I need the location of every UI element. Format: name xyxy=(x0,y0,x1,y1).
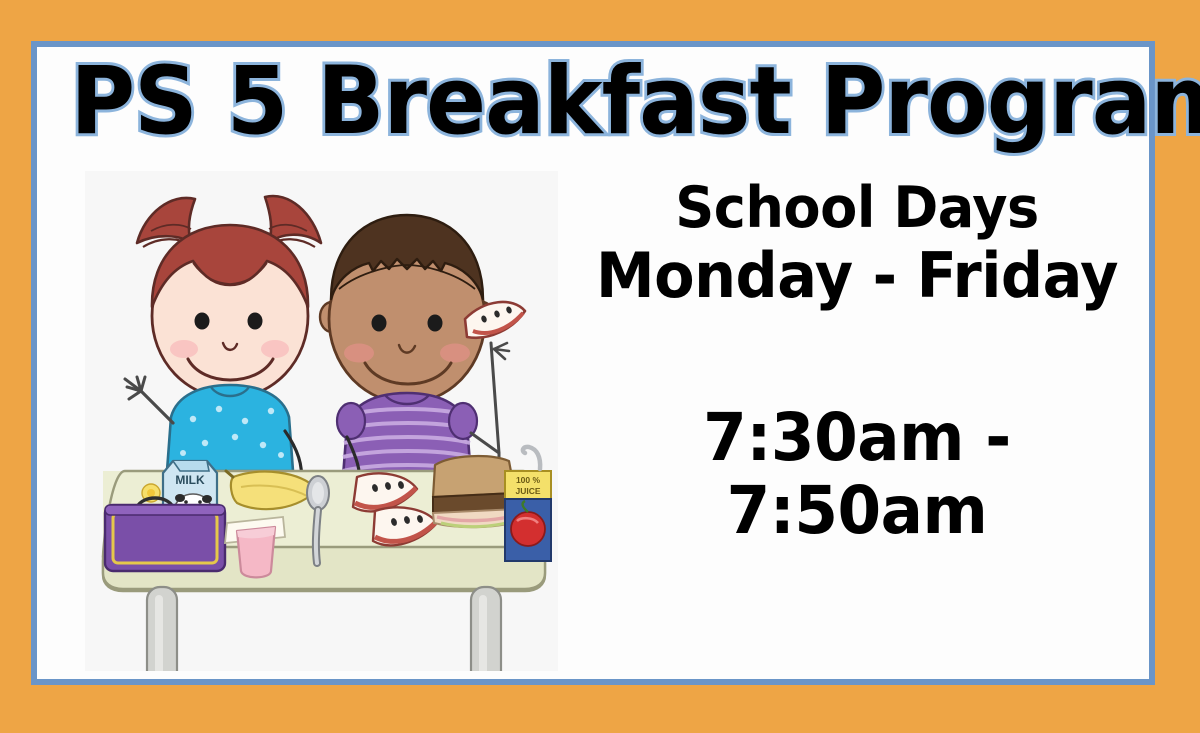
breakfast-illustration-svg: MILK xyxy=(85,171,558,671)
days-range-label: Monday - Friday xyxy=(572,241,1142,310)
poster-panel: PS 5 Breakfast Program xyxy=(37,47,1149,679)
schedule-info: School Days Monday - Friday 7:30am - 7:5… xyxy=(557,177,1157,647)
lunchbox-item xyxy=(105,498,225,571)
time-range-label: 7:30am - 7:50am xyxy=(572,402,1142,547)
juice-box-label-bottom: JUICE xyxy=(515,486,540,496)
school-days-label: School Days xyxy=(572,177,1142,241)
poster-background: PS 5 Breakfast Program xyxy=(0,0,1200,733)
juice-box-label-top: 100 % xyxy=(516,475,541,485)
page-title: PS 5 Breakfast Program xyxy=(70,55,1115,149)
breakfast-clipart: MILK xyxy=(85,171,558,671)
poster-frame: PS 5 Breakfast Program xyxy=(31,41,1155,685)
milk-carton-label: MILK xyxy=(175,473,205,487)
